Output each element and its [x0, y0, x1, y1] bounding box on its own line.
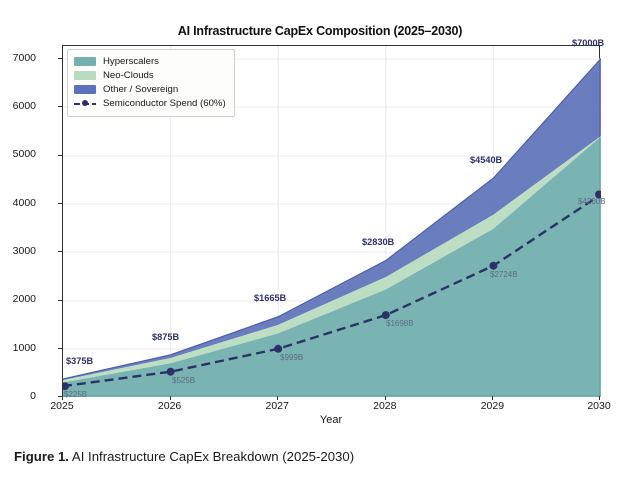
y-tick-7000: 7000 — [0, 52, 36, 64]
y-tick-3000: 3000 — [0, 245, 36, 257]
semi-label-2025: $225B — [64, 390, 87, 399]
semi-label-2030: $4200B — [578, 197, 606, 206]
legend-label: Neo-Clouds — [103, 70, 154, 81]
y-tick-4000: 4000 — [0, 197, 36, 209]
semi-label-2028: $1698B — [386, 319, 414, 328]
semi-label-2026: $525B — [172, 376, 195, 385]
chart-figure: AI Infrastructure CapEx Composition (202… — [0, 0, 640, 432]
legend-item-other-sovereign[interactable]: Other / Sovereign — [74, 83, 226, 96]
legend-swatch-icon — [74, 57, 96, 66]
legend-dashed-line-icon — [74, 99, 96, 108]
total-label-2027: $1665B — [254, 293, 286, 303]
legend-item-neo-clouds[interactable]: Neo-Clouds — [74, 69, 226, 82]
total-label-2030: $7000B — [572, 38, 604, 48]
x-tick-2026: 2026 — [140, 400, 200, 412]
chart-legend: Hyperscalers Neo-Clouds Other / Sovereig… — [67, 49, 235, 117]
y-tick-2000: 2000 — [0, 293, 36, 305]
plot-area: Hyperscalers Neo-Clouds Other / Sovereig… — [62, 45, 600, 396]
x-tick-2027: 2027 — [247, 400, 307, 412]
x-tick-2029: 2029 — [462, 400, 522, 412]
semi-label-2029: $2724B — [490, 270, 518, 279]
semi-label-2027: $999B — [280, 353, 303, 362]
x-axis-label: Year — [62, 414, 600, 426]
x-tick-2028: 2028 — [355, 400, 415, 412]
y-tick-0: 0 — [0, 390, 36, 402]
legend-swatch-icon — [74, 71, 96, 80]
y-tick-1000: 1000 — [0, 342, 36, 354]
legend-item-semiconductor[interactable]: Semiconductor Spend (60%) — [74, 97, 226, 110]
figure-caption-text: AI Infrastructure CapEx Breakdown (2025-… — [69, 449, 354, 464]
figure-caption-number: Figure 1. — [14, 449, 69, 464]
legend-label: Hyperscalers — [103, 56, 159, 67]
legend-swatch-icon — [74, 85, 96, 94]
chart-title: AI Infrastructure CapEx Composition (202… — [0, 24, 640, 38]
figure-container: AI Infrastructure CapEx Composition (202… — [0, 0, 640, 484]
y-tick-6000: 6000 — [0, 100, 36, 112]
figure-caption: Figure 1. AI Infrastructure CapEx Breakd… — [14, 448, 626, 465]
total-label-2029: $4540B — [470, 155, 502, 165]
y-tick-5000: 5000 — [0, 148, 36, 160]
total-label-2025: $375B — [66, 356, 93, 366]
total-label-2026: $875B — [152, 332, 179, 342]
legend-item-hyperscalers[interactable]: Hyperscalers — [74, 55, 226, 68]
legend-label: Other / Sovereign — [103, 84, 178, 95]
legend-label: Semiconductor Spend (60%) — [103, 98, 226, 109]
x-tick-2025: 2025 — [32, 400, 92, 412]
total-label-2028: $2830B — [362, 237, 394, 247]
x-tick-2030: 2030 — [569, 400, 629, 412]
